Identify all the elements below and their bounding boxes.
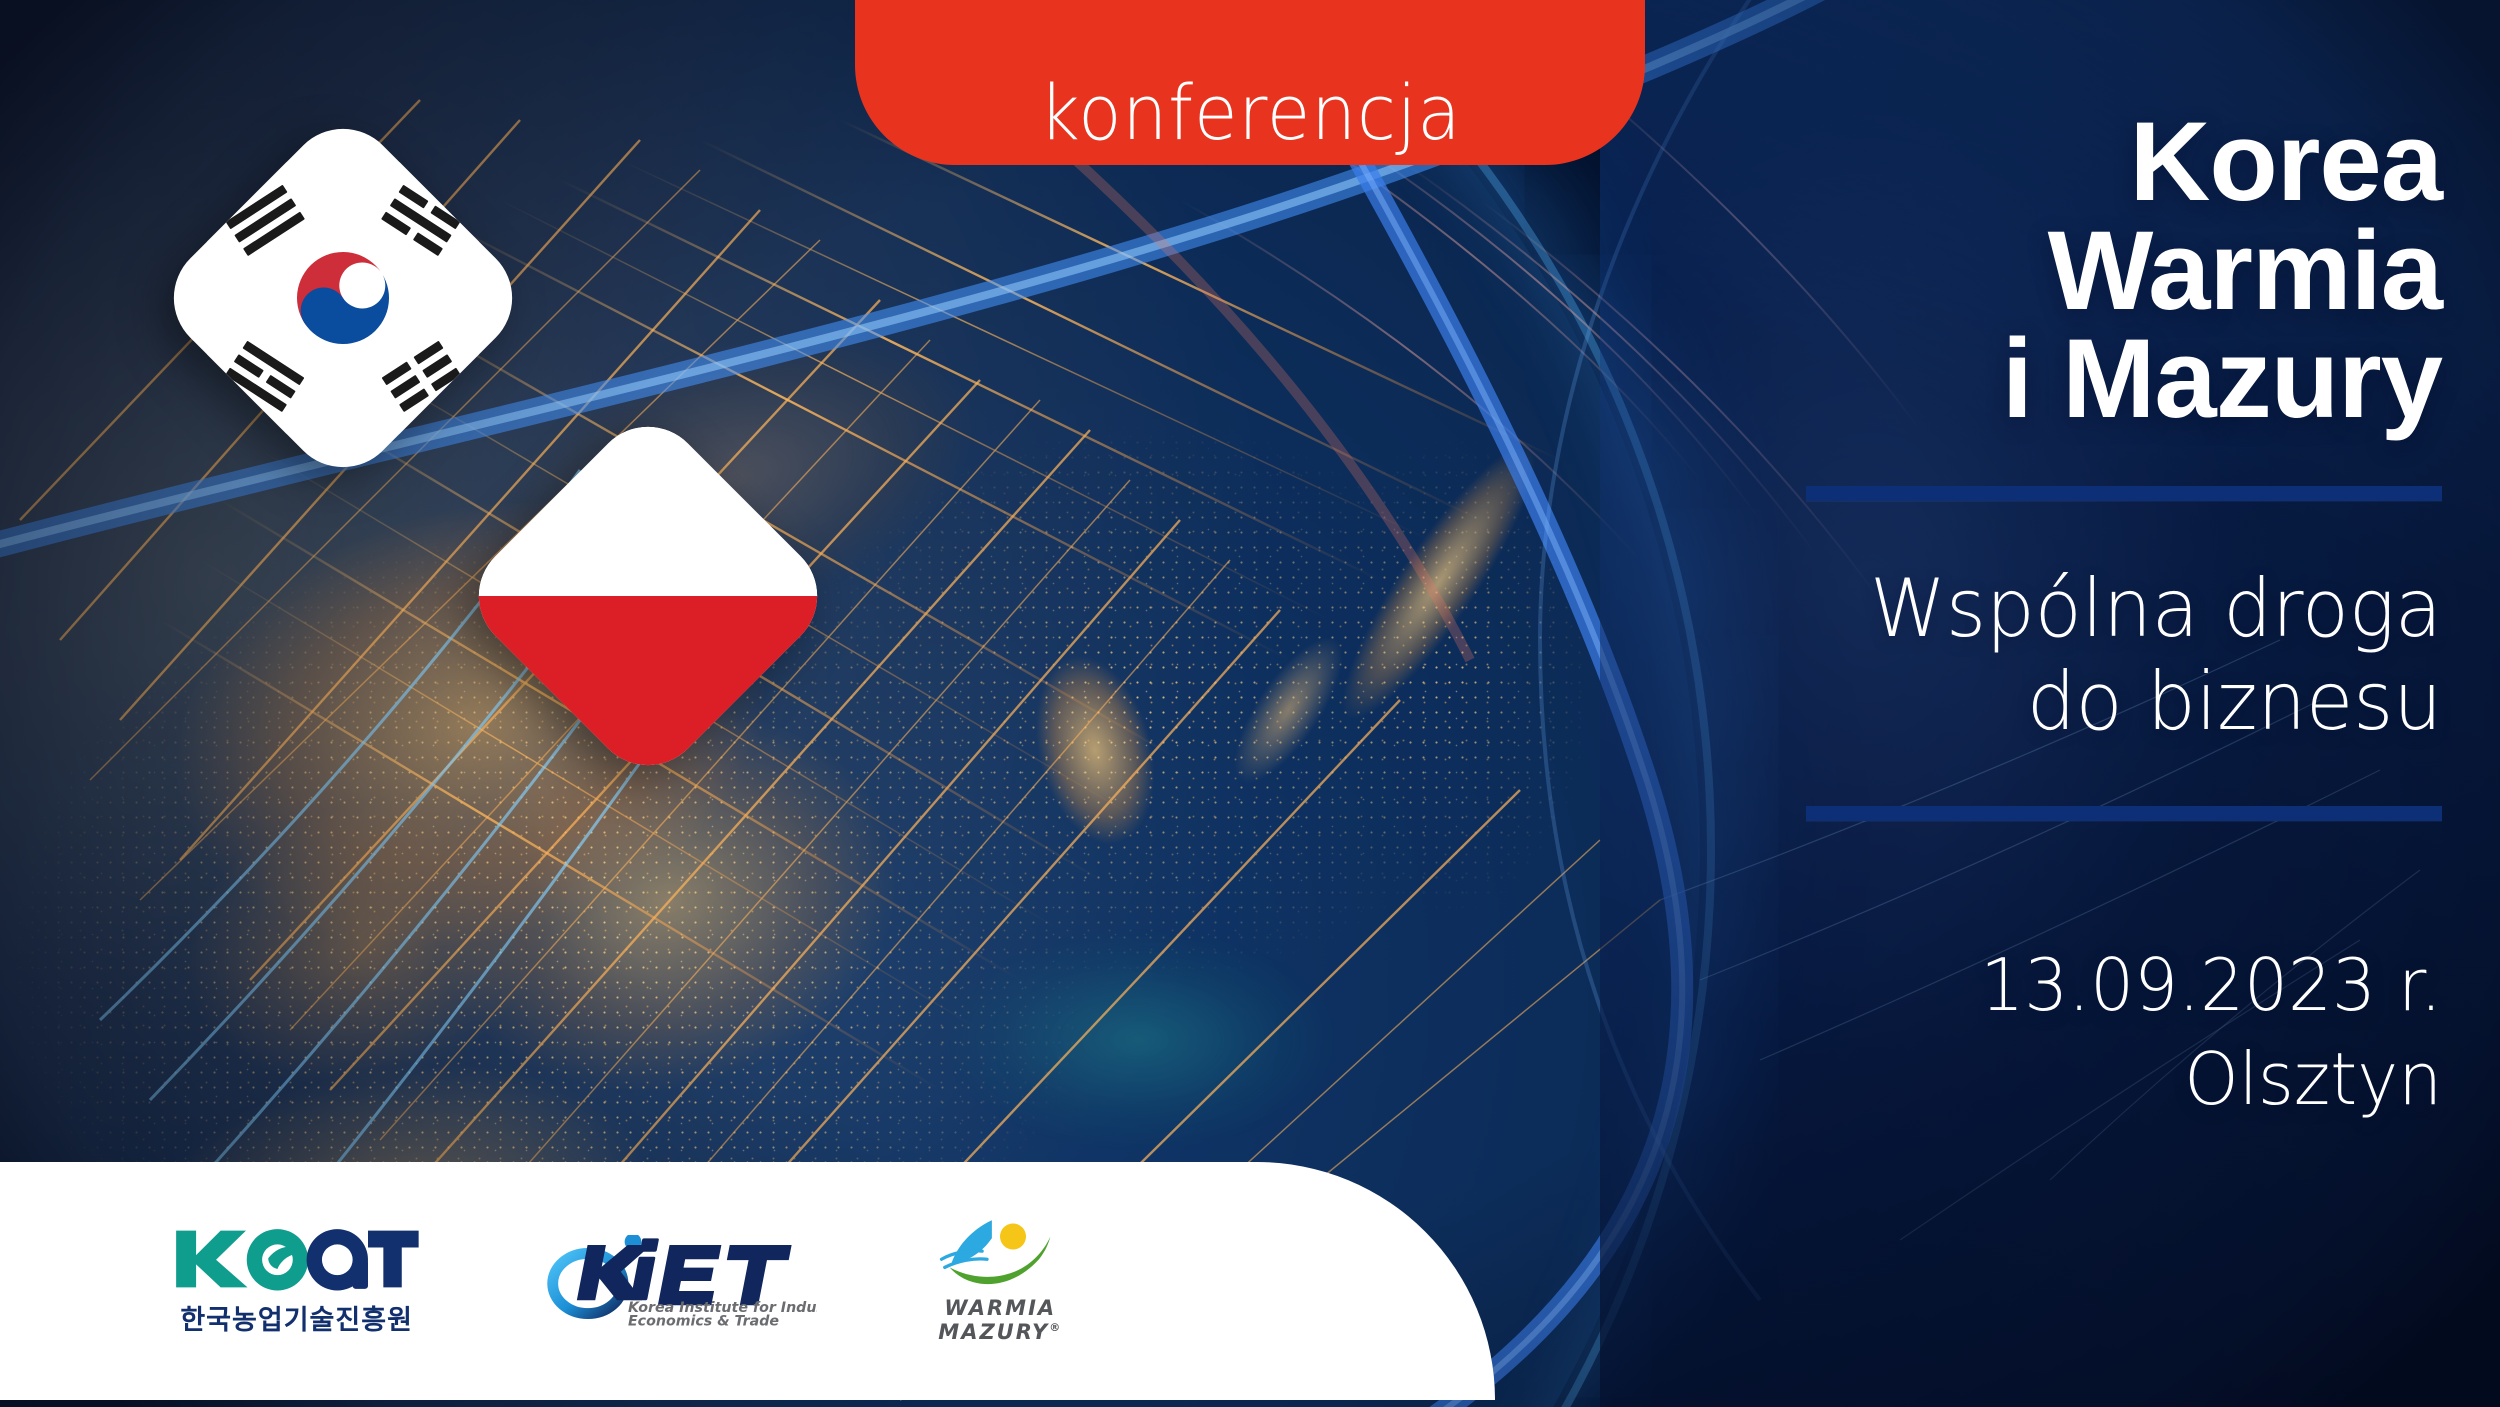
divider-top <box>1806 486 2442 501</box>
kiet-logo: Korea Institute for Industrial Economics… <box>541 1235 817 1327</box>
event-date: 13.09.2023 r. <box>1597 939 2442 1033</box>
konferencja-banner: konferencja <box>855 0 1645 165</box>
kiet-wordmark-icon: Korea Institute for Industrial Economics… <box>541 1235 817 1327</box>
koat-korean-name: 한국농업기술진흥원 <box>180 1298 413 1337</box>
warmia-mazury-wordmark: WARMIA MAZURY® <box>938 1297 1062 1344</box>
registered-mark: ® <box>1049 1321 1062 1334</box>
poster-subtitle: Wspólna droga do biznesu <box>1597 563 2442 749</box>
poland-flag-inner <box>512 460 784 732</box>
subtitle-line-2: do biznesu <box>1597 656 2442 749</box>
taegukgi-svg <box>207 162 479 434</box>
divider-bottom <box>1806 806 2442 821</box>
title-line-2: Warmia <box>1562 217 2442 326</box>
subtitle-line-1: Wspólna droga <box>1597 563 2442 656</box>
event-details: 13.09.2023 r. Olsztyn <box>1597 939 2442 1126</box>
poster-text-column: Korea Warmia i Mazury Wspólna droga do b… <box>1562 108 2442 1127</box>
event-city: Olsztyn <box>1597 1033 2442 1127</box>
sponsor-logo-bar: 한국농업기술진흥원 <box>0 1162 1495 1400</box>
koat-logo: 한국농업기술진흥원 <box>170 1226 423 1337</box>
konferencja-label: konferencja <box>1039 75 1462 151</box>
conference-poster: konferencja <box>0 0 2500 1407</box>
mazury-line: MAZURY <box>938 1320 1049 1344</box>
page-title: Korea Warmia i Mazury <box>1562 108 2442 434</box>
kiet-tagline-line2: Economics & Trade <box>628 1313 779 1327</box>
south-korea-flag-inner <box>207 162 479 434</box>
warmia-line: WARMIA <box>944 1296 1056 1320</box>
title-line-1: Korea <box>1562 108 2442 217</box>
title-line-3: i Mazury <box>1562 325 2442 434</box>
koat-wordmark-icon <box>170 1226 423 1292</box>
warmia-mazury-logo: WARMIA MAZURY® <box>935 1217 1065 1344</box>
warmia-mazury-emblem-icon <box>935 1217 1065 1295</box>
